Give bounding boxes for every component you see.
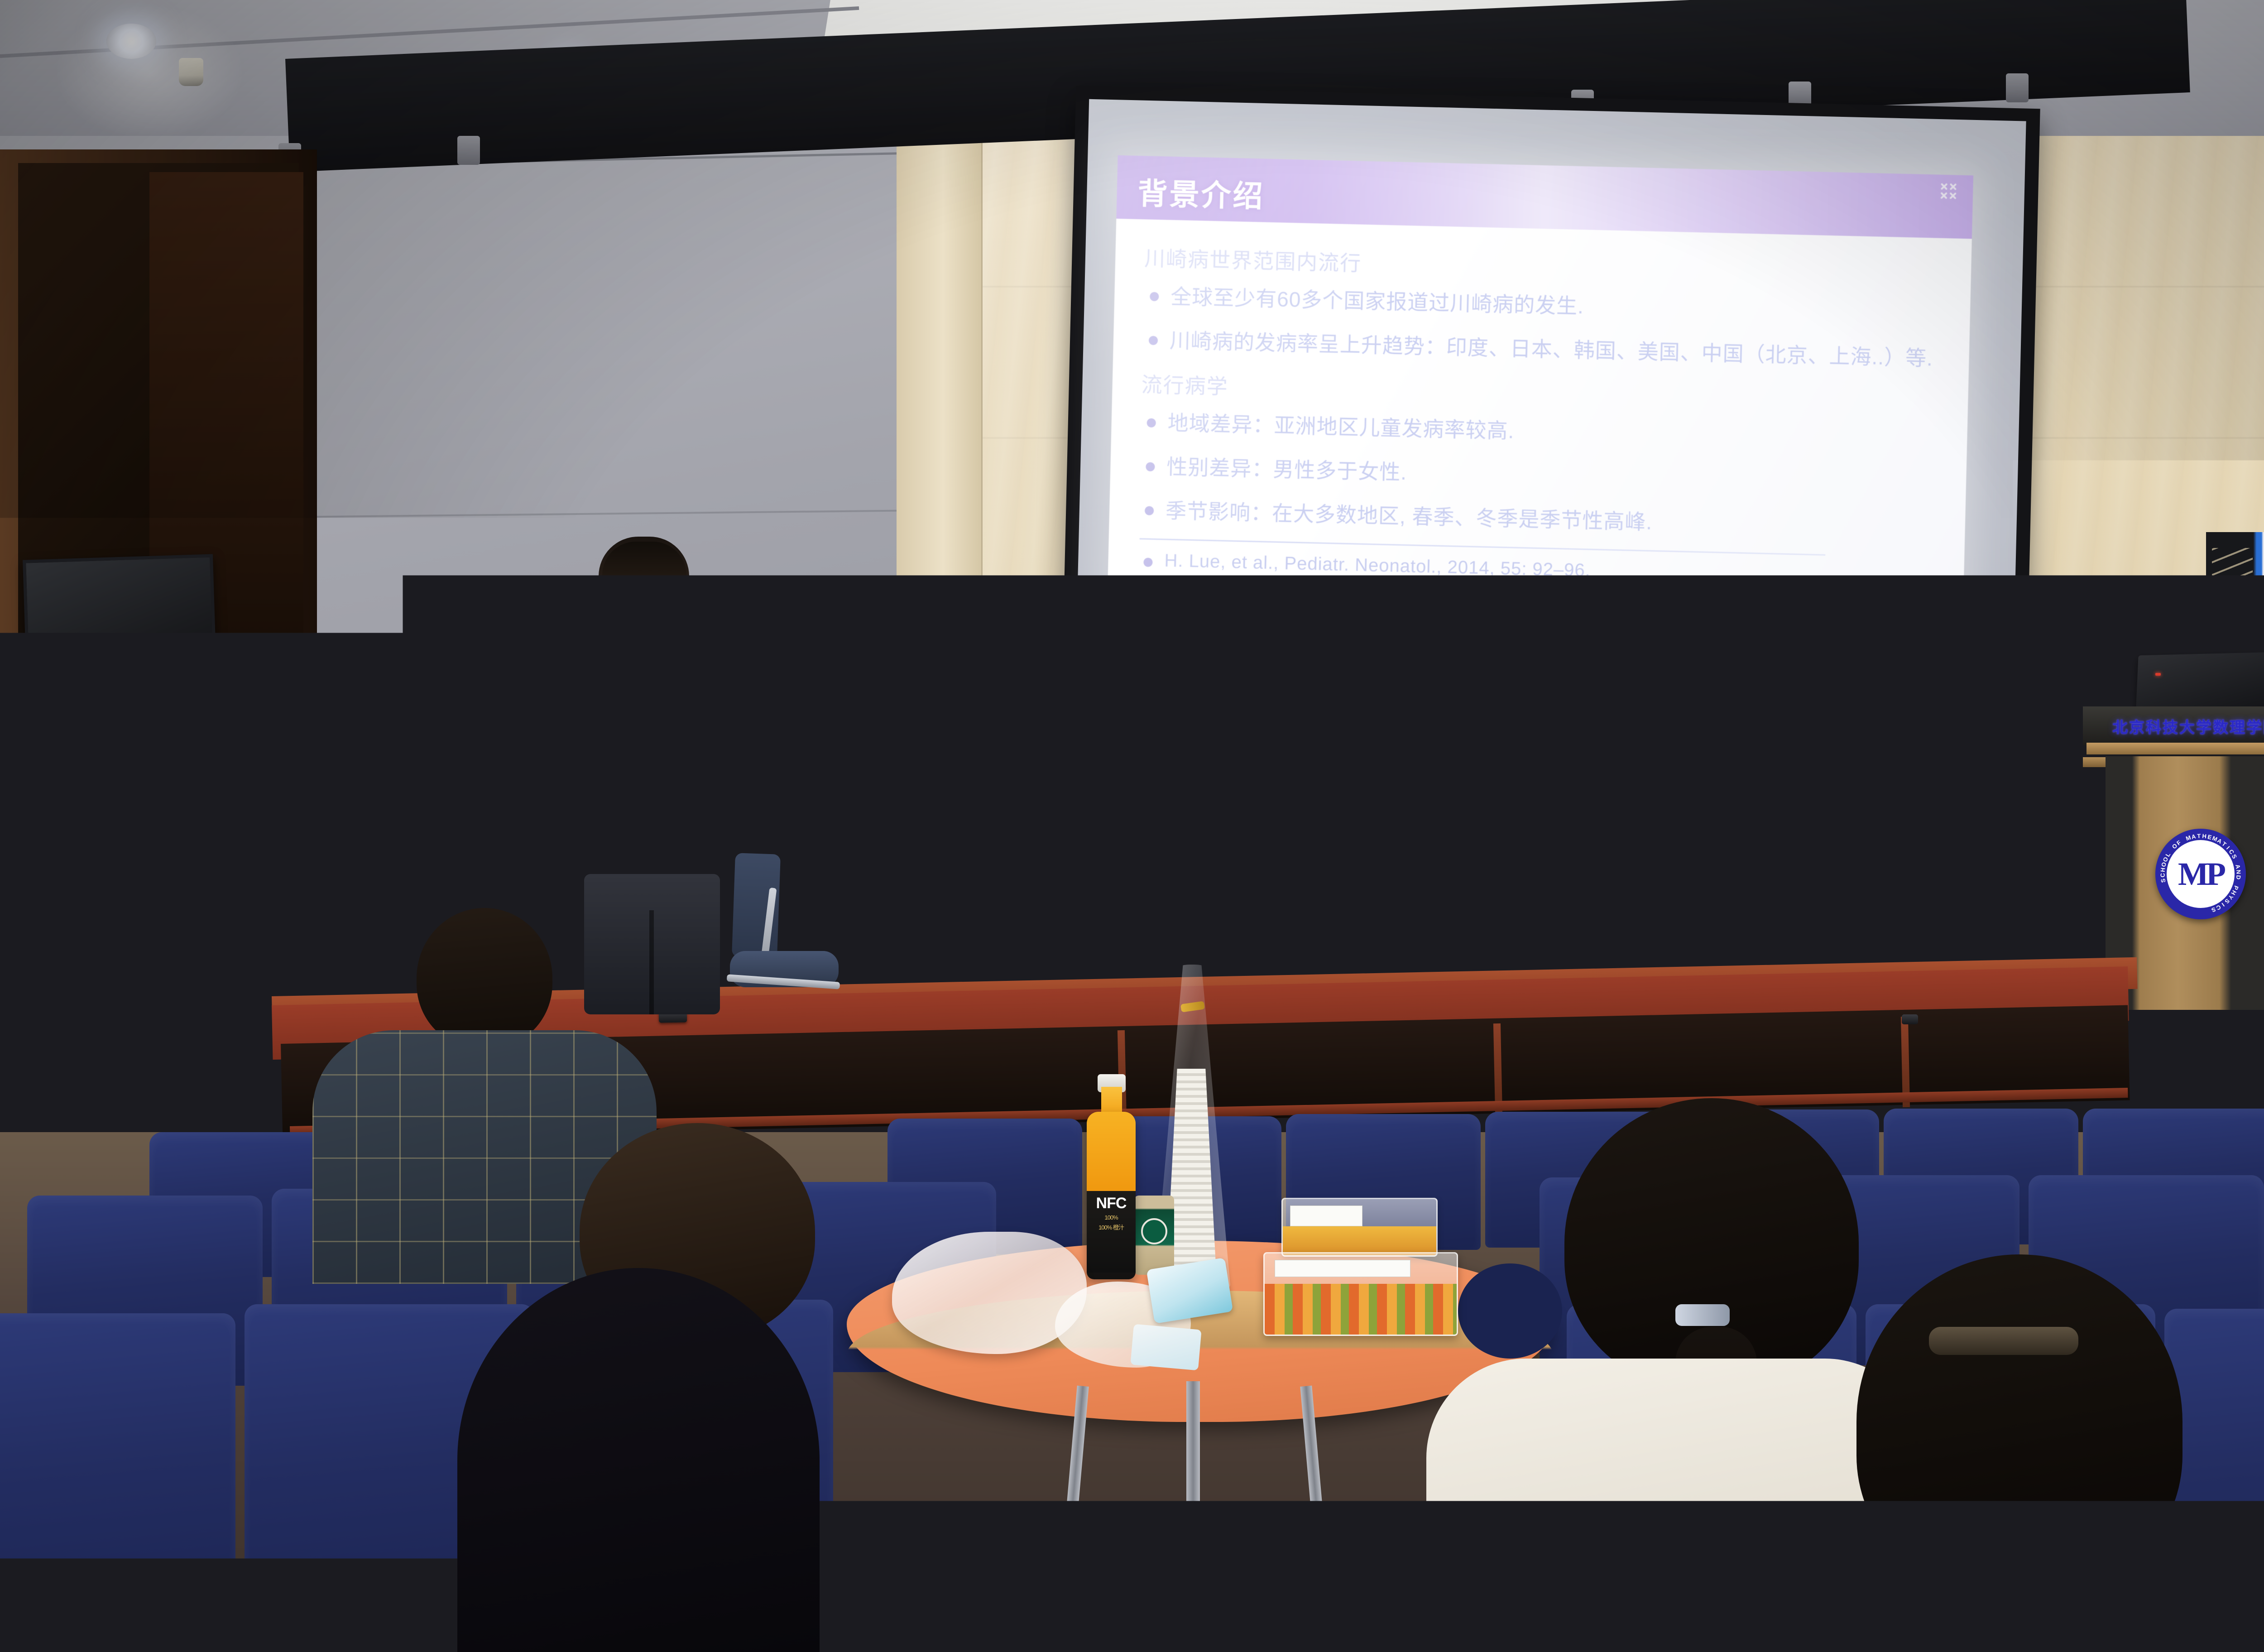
list-item: H. Lue, et al., Pediatr. Neonatol., 2014… <box>1134 546 1933 593</box>
cable-gear <box>172 956 222 974</box>
logo-ring-char: T <box>2197 832 2201 839</box>
presenter-glasses-icon <box>610 589 679 604</box>
slide-bullet-list-1: 全球至少有60多个国家报道过川崎病的发生. 川崎病的发病率呈上升趋势：印度、日本… <box>1139 280 1938 375</box>
pastry-contents <box>1283 1226 1436 1255</box>
presentation-clicker-icon <box>797 753 812 763</box>
logo-ring-char: H <box>2159 867 2167 872</box>
cable-gear <box>68 915 122 936</box>
track-light <box>457 136 480 165</box>
juice-claim: 100% <box>1087 1214 1136 1221</box>
track-light <box>2006 73 2029 102</box>
logo-ring-text: SCHOOL OF MATHEMATICS AND PHYSICS <box>2155 829 2246 919</box>
food-label <box>1290 1205 1362 1226</box>
cable-gear <box>109 901 149 917</box>
juice-description: 100% 橙汁 <box>1087 1223 1136 1231</box>
fruit-contents <box>1265 1284 1457 1335</box>
table-cutout <box>1458 1263 1562 1359</box>
wet-wipes-pack <box>1130 1324 1201 1371</box>
presenter-mouth <box>634 623 652 630</box>
slide-footer-date: 2024年5月24日 <box>1636 658 1842 684</box>
audience-head <box>1856 1254 2182 1590</box>
auditorium-seat <box>0 1313 235 1652</box>
presenter-trouser-seam <box>649 910 654 1014</box>
slide-body: 川崎病世界范围内流行 全球至少有60多个国家报道过川崎病的发生. 川崎病的发病率… <box>1107 219 1972 644</box>
logo-ring-char: S <box>2159 878 2167 883</box>
logo-ring-char: C <box>2215 903 2222 912</box>
table-leg <box>1186 1381 1200 1594</box>
presenter-laptop[interactable] <box>2136 652 2264 713</box>
logo-ring-char: C <box>2159 873 2166 878</box>
speaker-grille <box>2212 548 2253 661</box>
wall-monitor <box>23 554 217 705</box>
juice-brand: NFC <box>1096 1195 1127 1212</box>
logo-ring-char: H <box>2202 832 2207 840</box>
sunglasses-on-head-icon <box>1929 1327 2078 1355</box>
laptop-power-led-icon <box>2155 673 2161 676</box>
audience-torso <box>743 1485 978 1652</box>
list-item: 性别差异：男性多于女性. <box>1137 450 1935 501</box>
slide-bullet-list-2: 地域差异：亚洲地区儿童发病率较高. 性别差异：男性多于女性. 季节影响：在大多数… <box>1135 406 1936 545</box>
coffee-brand-logo <box>1141 1218 1167 1244</box>
pastry-box <box>1281 1198 1438 1257</box>
sticky-note: 40 IP:222.28.49.25? 404 IP:222.28.49.252 <box>44 721 118 769</box>
podium-nameplate: 北京科技大学数理学院 <box>2083 706 2264 745</box>
logo-ring-char: I <box>2221 902 2226 908</box>
slide-footer-page-number: 8 / 61 <box>1842 665 1962 684</box>
lecture-hall-photo: 背景介绍 川崎病世界范围内流行 全球至少有60多个国家报道过川崎病的发生. 川崎… <box>0 0 2264 1652</box>
slide-footer-talk-title: Kawasaki disease 微分方程建模与动力学分析 <box>1328 651 1636 679</box>
hair-clip-icon <box>1675 1304 1730 1326</box>
presenter-left-arm <box>552 664 618 830</box>
audience-torso <box>1802 1540 2237 1652</box>
school-logo: SCHOOL OF MATHEMATICS AND PHYSICS MP <box>2155 829 2246 919</box>
slide-reference-list: H. Lue, et al., Pediatr. Neonatol., 2014… <box>1133 546 1933 631</box>
remote-control[interactable] <box>1902 1014 1918 1024</box>
podium-nameplate-text: 北京科技大学数理学院 <box>2112 715 2264 737</box>
list-item: Z. Du, et al., Pediatr. Infect. Dis. J.,… <box>1133 584 1932 630</box>
fruit-box <box>1263 1252 1458 1336</box>
juice-bottle-label: NFC 100% 100% 橙汁 <box>1087 1191 1136 1273</box>
podium-top-shelf <box>2087 743 2264 754</box>
logo-ring-char: D <box>2235 875 2242 880</box>
list-item: 川崎病的发病率呈上升趋势：印度、日本、韩国、美国、中国（北京、上海..）等. <box>1139 324 1938 375</box>
logo-ring-char: N <box>2235 869 2242 874</box>
food-label <box>1275 1260 1410 1277</box>
slide-footer-author: 郭轲 (USTB) <box>1106 646 1329 672</box>
slide-title: 背景介绍 <box>1137 169 1265 216</box>
arrows-inward-icon[interactable] <box>1939 182 1958 201</box>
audience-head <box>417 908 552 1048</box>
equipment-case <box>59 933 154 1023</box>
list-item: 季节影响：在大多数地区, 春季、冬季是季节性高峰. <box>1135 494 1933 545</box>
logo-ring-char: A <box>2191 833 2197 840</box>
presenter-shirt-placket <box>642 666 648 734</box>
logo-ring-char: A <box>2234 864 2242 869</box>
projected-slide: 背景介绍 川崎病世界范围内流行 全球至少有60多个国家报道过川崎病的发生. 川崎… <box>1106 155 1973 689</box>
ceiling-light-glow <box>54 5 245 140</box>
